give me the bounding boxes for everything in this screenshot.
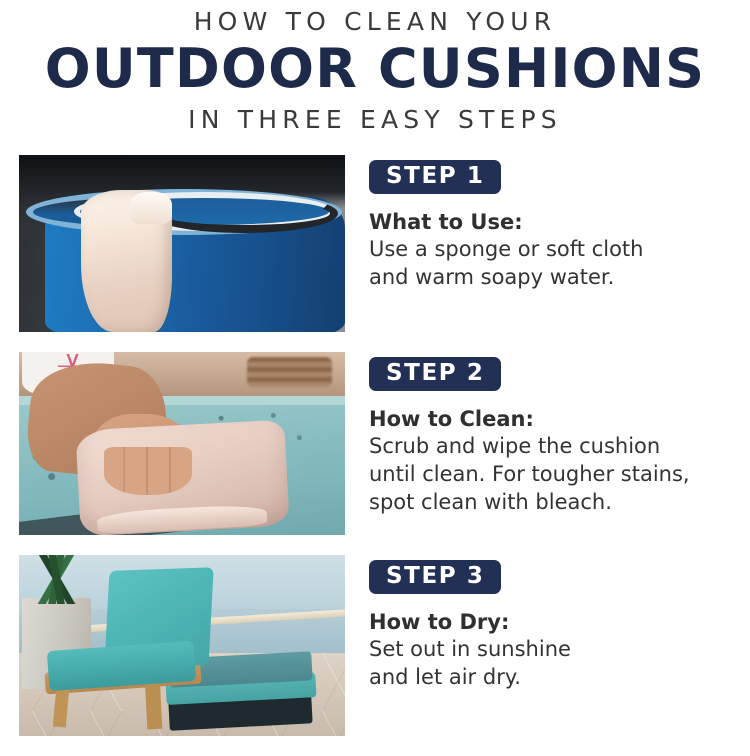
step-1-body: Use a sponge or soft cloth and warm soap… — [369, 236, 750, 291]
step-2-body: Scrub and wipe the cushion until clean. … — [369, 433, 750, 516]
step-1-badge: STEP 1 — [369, 160, 501, 194]
cloth-fold — [130, 192, 172, 224]
step-3-badge: STEP 3 — [369, 560, 501, 594]
step-3-heading: How to Dry: — [369, 609, 750, 635]
step-row: STEP 1 What to Use: Use a sponge or soft… — [0, 155, 750, 332]
step-row: STEP 2 How to Clean: Scrub and wipe the … — [0, 352, 750, 535]
steps-list: STEP 1 What to Use: Use a sponge or soft… — [0, 155, 750, 756]
page-header: HOW TO CLEAN YOUR OUTDOOR CUSHIONS IN TH… — [0, 0, 750, 135]
chaise-leg-rear — [145, 678, 162, 729]
step-1-text: STEP 1 What to Use: Use a sponge or soft… — [369, 155, 750, 292]
page-title: OUTDOOR CUSHIONS — [0, 41, 750, 97]
step-2-text: STEP 2 How to Clean: Scrub and wipe the … — [369, 352, 750, 516]
step-1-heading: What to Use: — [369, 209, 750, 235]
header-subkicker: IN THREE EASY STEPS — [0, 106, 750, 135]
stacked-objects — [247, 357, 332, 386]
step-3-photo — [19, 555, 345, 736]
fingers — [104, 447, 192, 495]
spiky-plant — [26, 555, 88, 604]
step-2-badge: STEP 2 — [369, 357, 501, 391]
step-3-body: Set out in sunshine and let air dry. — [369, 636, 750, 691]
header-kicker: HOW TO CLEAN YOUR — [0, 8, 750, 37]
step-2-heading: How to Clean: — [369, 406, 750, 432]
step-row: STEP 3 How to Dry: Set out in sunshine a… — [0, 555, 750, 736]
step-2-photo — [19, 352, 345, 535]
bucket-rim-shadow — [149, 194, 338, 233]
step-3-text: STEP 3 How to Dry: Set out in sunshine a… — [369, 555, 750, 692]
step-1-photo — [19, 155, 345, 332]
